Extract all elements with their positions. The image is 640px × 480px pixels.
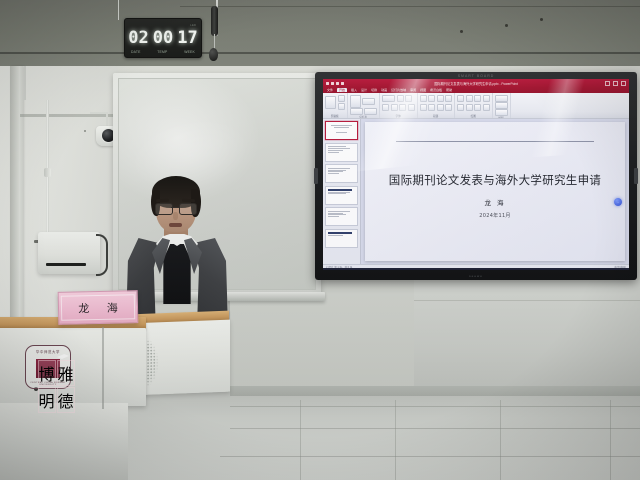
shape-outline-icon[interactable] bbox=[466, 104, 473, 111]
clock-date-label: DATE bbox=[131, 50, 141, 54]
placard-name-text: 龙 海 bbox=[71, 299, 125, 316]
shape-effects-icon[interactable] bbox=[474, 104, 481, 111]
lectern-podium: 华中师范大学 博 雅 明 德 CENTRAL CHINA NORMAL UNIV… bbox=[0, 305, 228, 480]
floor-tile-line bbox=[230, 428, 640, 429]
thumbnail-slide-4[interactable]: 4 bbox=[325, 186, 358, 205]
ribbon-group-label: 剪贴板 bbox=[325, 114, 345, 118]
reset-icon[interactable] bbox=[350, 108, 363, 115]
ribbon-row[interactable] bbox=[350, 108, 378, 115]
tab-slideshow[interactable]: 幻灯片放映 bbox=[391, 88, 406, 92]
placard-inner-border: 龙 海 bbox=[61, 295, 135, 321]
replace-icon[interactable] bbox=[495, 102, 508, 109]
ceiling-mark bbox=[505, 24, 508, 27]
columns-icon[interactable] bbox=[445, 104, 452, 111]
redo-icon[interactable] bbox=[336, 82, 339, 85]
align-center-icon[interactable] bbox=[428, 104, 435, 111]
shape-icon[interactable] bbox=[457, 95, 464, 102]
clock-brand-label: LED bbox=[190, 23, 196, 27]
thumbnail-slide-1[interactable]: 1 bbox=[325, 121, 358, 140]
display-bottom-bezel: seewo bbox=[315, 271, 637, 280]
interactive-smart-display[interactable]: SMART BOARD 国际期刊论文发表与海外大学研究生申请.pptx - Po… bbox=[315, 72, 637, 280]
windows-taskbar[interactable]: 2:00 bbox=[323, 268, 629, 270]
wallbox-vent-slot bbox=[46, 263, 86, 266]
ribbon-group-label: 段落 bbox=[420, 114, 453, 118]
podium-base bbox=[0, 403, 128, 480]
thumb-line bbox=[328, 193, 346, 194]
tab-review[interactable]: 审阅 bbox=[410, 88, 416, 92]
select-icon[interactable] bbox=[495, 109, 508, 116]
presenter bbox=[128, 176, 228, 326]
ribbon-row[interactable] bbox=[457, 95, 490, 102]
wallbox-cable-loop bbox=[96, 234, 108, 276]
display-brand-label: SMART BOARD bbox=[458, 74, 495, 78]
floor-tile-line bbox=[395, 400, 396, 480]
ribbon-row[interactable] bbox=[495, 109, 508, 116]
file-explorer-icon[interactable] bbox=[333, 270, 337, 271]
font-size-select[interactable] bbox=[397, 95, 404, 102]
right-wall-lower bbox=[414, 280, 640, 392]
powerpoint-workspace[interactable]: 1 2 3 bbox=[323, 119, 629, 264]
tab-design[interactable]: 设计 bbox=[361, 88, 367, 92]
thumb-line bbox=[334, 127, 349, 128]
digital-wall-clock: LED 02 00 17 DATE TEMP WEEK bbox=[124, 18, 202, 58]
ribbon-group-drawing[interactable]: 绘图 bbox=[455, 93, 493, 118]
thumbnail-slide-5[interactable]: 5 bbox=[325, 207, 358, 226]
clock-subline: DATE TEMP WEEK bbox=[131, 50, 195, 54]
lens-left bbox=[155, 203, 173, 215]
italic-icon[interactable] bbox=[391, 104, 398, 111]
align-left-icon[interactable] bbox=[420, 104, 427, 111]
ribbon-row[interactable] bbox=[382, 95, 415, 102]
ribbon-row[interactable] bbox=[350, 95, 378, 108]
lens-right bbox=[179, 203, 197, 215]
clock-display: 02 00 17 bbox=[128, 30, 197, 47]
slide-title-text[interactable]: 国际期刊论文发表与海外大学研究生申请 bbox=[389, 174, 601, 188]
close-icon[interactable] bbox=[621, 81, 626, 86]
current-slide[interactable]: 国际期刊论文发表与海外大学研究生申请 龙 海 2024年11月 · bbox=[365, 122, 625, 261]
ceiling bbox=[0, 0, 640, 72]
thumb-line bbox=[328, 189, 352, 191]
ribbon-group-clipboard[interactable]: 剪贴板 bbox=[323, 93, 348, 118]
nose bbox=[173, 212, 178, 220]
seal-chop-char: 德 bbox=[57, 387, 75, 413]
ceiling-seam-secondary bbox=[180, 6, 640, 7]
slide-divider-line bbox=[396, 141, 594, 142]
minimize-icon[interactable] bbox=[605, 81, 610, 86]
university-seal-emblem: 华中师范大学 博 雅 明 德 CENTRAL CHINA NORMAL UNIV… bbox=[25, 345, 71, 389]
seal-english-name: CENTRAL CHINA NORMAL UNIVERSITY bbox=[26, 382, 70, 386]
document-title: 国际期刊论文发表与海外大学研究生申请.pptx - PowerPoint bbox=[434, 81, 517, 86]
find-icon[interactable] bbox=[495, 95, 508, 102]
conduit-joint bbox=[44, 168, 51, 177]
thumb-line bbox=[328, 216, 339, 217]
microphone-body bbox=[211, 6, 218, 36]
ribbon-group-label: 幻灯片 bbox=[350, 115, 378, 119]
thumb-line bbox=[328, 152, 339, 153]
classroom-scene: LED 02 00 17 DATE TEMP WEEK SMART BOARD bbox=[0, 0, 640, 480]
copy-icon[interactable] bbox=[338, 103, 345, 110]
thumb-line bbox=[328, 232, 352, 234]
baseboard bbox=[230, 386, 640, 396]
layout-icon[interactable] bbox=[362, 98, 375, 105]
section-icon[interactable] bbox=[364, 108, 377, 115]
bold-icon[interactable] bbox=[382, 104, 389, 111]
floor-tile-line bbox=[500, 400, 501, 480]
cut-icon[interactable] bbox=[338, 95, 345, 102]
ribbon-group-font[interactable]: 字体 bbox=[380, 93, 418, 118]
start-menu-icon[interactable] bbox=[326, 270, 330, 271]
powerpoint-taskbar-icon[interactable] bbox=[340, 270, 344, 271]
ribbon-row[interactable] bbox=[495, 95, 508, 102]
name-placard: 龙 海 bbox=[58, 290, 139, 325]
shape-fill-icon[interactable] bbox=[457, 104, 464, 111]
arrange-icon[interactable] bbox=[483, 95, 490, 102]
ribbon-row[interactable] bbox=[420, 95, 453, 102]
underline-icon[interactable] bbox=[399, 104, 406, 111]
tab-animations[interactable]: 动画 bbox=[381, 88, 387, 92]
bullets-icon[interactable] bbox=[420, 95, 427, 102]
microphone-icon bbox=[209, 48, 218, 61]
tab-view[interactable]: 视图 bbox=[420, 88, 426, 92]
tab-help[interactable]: 帮助 bbox=[446, 88, 452, 92]
floor-tile-line bbox=[220, 456, 640, 457]
slide-author-text[interactable]: 龙 海 bbox=[484, 197, 505, 207]
ribbon-row[interactable] bbox=[495, 102, 508, 109]
wall-fixture-dot bbox=[84, 130, 86, 132]
display-screen[interactable]: 国际期刊论文发表与海外大学研究生申请.pptx - PowerPoint 文件 … bbox=[323, 79, 629, 270]
maximize-icon[interactable] bbox=[613, 81, 618, 86]
seal-chop-char: 明 bbox=[38, 387, 56, 413]
wall-equipment-box bbox=[38, 232, 100, 274]
seal-university-name: 华中师范大学 bbox=[26, 349, 70, 354]
tab-file[interactable]: 文件 bbox=[327, 88, 333, 92]
thumbnail-slide-3[interactable]: 3 bbox=[325, 164, 358, 183]
display-side-button-left[interactable] bbox=[314, 168, 318, 184]
browser-taskbar-icon[interactable] bbox=[347, 270, 351, 271]
ceiling-mount-rod bbox=[24, 66, 26, 100]
line-spacing-icon[interactable] bbox=[445, 95, 452, 102]
display-logo: seewo bbox=[469, 274, 483, 278]
ceiling-mark bbox=[460, 30, 463, 33]
floor-tile-line bbox=[610, 400, 611, 480]
ribbon-row[interactable] bbox=[325, 95, 345, 110]
slide-date-text[interactable]: 2024年11月 bbox=[479, 212, 511, 219]
align-right-icon[interactable] bbox=[437, 104, 444, 111]
podium-panel-seam bbox=[102, 327, 104, 409]
thumb-line bbox=[328, 173, 339, 174]
shape-icon[interactable] bbox=[466, 95, 473, 102]
paste-icon[interactable] bbox=[325, 96, 336, 109]
right-wall-seam bbox=[414, 300, 640, 301]
indent-icon[interactable] bbox=[437, 95, 444, 102]
ribbon-group-label: 字体 bbox=[382, 114, 415, 118]
ceiling-mark bbox=[540, 18, 543, 21]
ribbon-group-slides[interactable]: 幻灯片 bbox=[348, 93, 381, 118]
increase-font-icon[interactable] bbox=[405, 95, 412, 102]
tab-home[interactable]: 开始 bbox=[337, 88, 347, 92]
seal-chop-block: 博 雅 明 德 bbox=[36, 359, 60, 378]
save-icon[interactable] bbox=[326, 82, 329, 85]
clock-seconds: 17 bbox=[177, 30, 197, 47]
window-controls[interactable] bbox=[605, 81, 626, 86]
ribbon-row[interactable] bbox=[420, 104, 453, 111]
thumbnail-slide-2[interactable]: 2 bbox=[325, 143, 358, 162]
clock-week-label: WEEK bbox=[184, 50, 195, 54]
quick-access-toolbar[interactable] bbox=[326, 82, 344, 85]
floor-tile-line bbox=[230, 406, 640, 407]
ceiling-cable bbox=[118, 0, 119, 20]
clock-minutes: 00 bbox=[153, 30, 173, 47]
quick-styles-icon[interactable] bbox=[483, 104, 490, 111]
thumbnail-slide-6[interactable]: 6 bbox=[325, 229, 358, 248]
floor-tile-line bbox=[300, 400, 301, 480]
new-slide-icon[interactable] bbox=[350, 95, 361, 108]
slide-editing-stage[interactable]: 国际期刊论文发表与海外大学研究生申请 龙 海 2024年11月 · bbox=[361, 119, 629, 264]
font-family-select[interactable] bbox=[382, 95, 395, 102]
ceiling-seam bbox=[0, 52, 640, 54]
font-color-icon[interactable] bbox=[408, 104, 415, 111]
tab-insert[interactable]: 插入 bbox=[351, 88, 357, 92]
clock-hours: 02 bbox=[128, 30, 148, 47]
ribbon-toolbar[interactable]: 剪贴板 幻灯片 bbox=[323, 93, 629, 119]
slide-thumbnail-pane[interactable]: 1 2 3 bbox=[323, 119, 361, 264]
display-side-button-right[interactable] bbox=[634, 168, 638, 184]
ribbon-group-paragraph[interactable]: 段落 bbox=[418, 93, 456, 118]
ribbon-row[interactable] bbox=[457, 104, 490, 111]
shape-icon[interactable] bbox=[474, 95, 481, 102]
floating-assistant-button[interactable]: · bbox=[614, 198, 622, 206]
undo-icon[interactable] bbox=[331, 82, 334, 85]
slideshow-icon[interactable] bbox=[341, 82, 344, 85]
numbering-icon[interactable] bbox=[428, 95, 435, 102]
ribbon-group-editing[interactable]: 编辑 bbox=[493, 93, 511, 118]
powerpoint-title-bar: 国际期刊论文发表与海外大学研究生申请.pptx - PowerPoint bbox=[323, 79, 629, 87]
thumb-line bbox=[336, 132, 347, 133]
ribbon-row[interactable] bbox=[382, 104, 415, 111]
thumb-line bbox=[328, 235, 343, 236]
ribbon-group-label: 绘图 bbox=[457, 114, 490, 118]
mouth bbox=[169, 223, 182, 227]
tab-transitions[interactable]: 切换 bbox=[371, 88, 377, 92]
clock-temp-label: TEMP bbox=[157, 50, 167, 54]
tab-seewo-whiteboard[interactable]: 希沃白板 bbox=[430, 88, 442, 92]
